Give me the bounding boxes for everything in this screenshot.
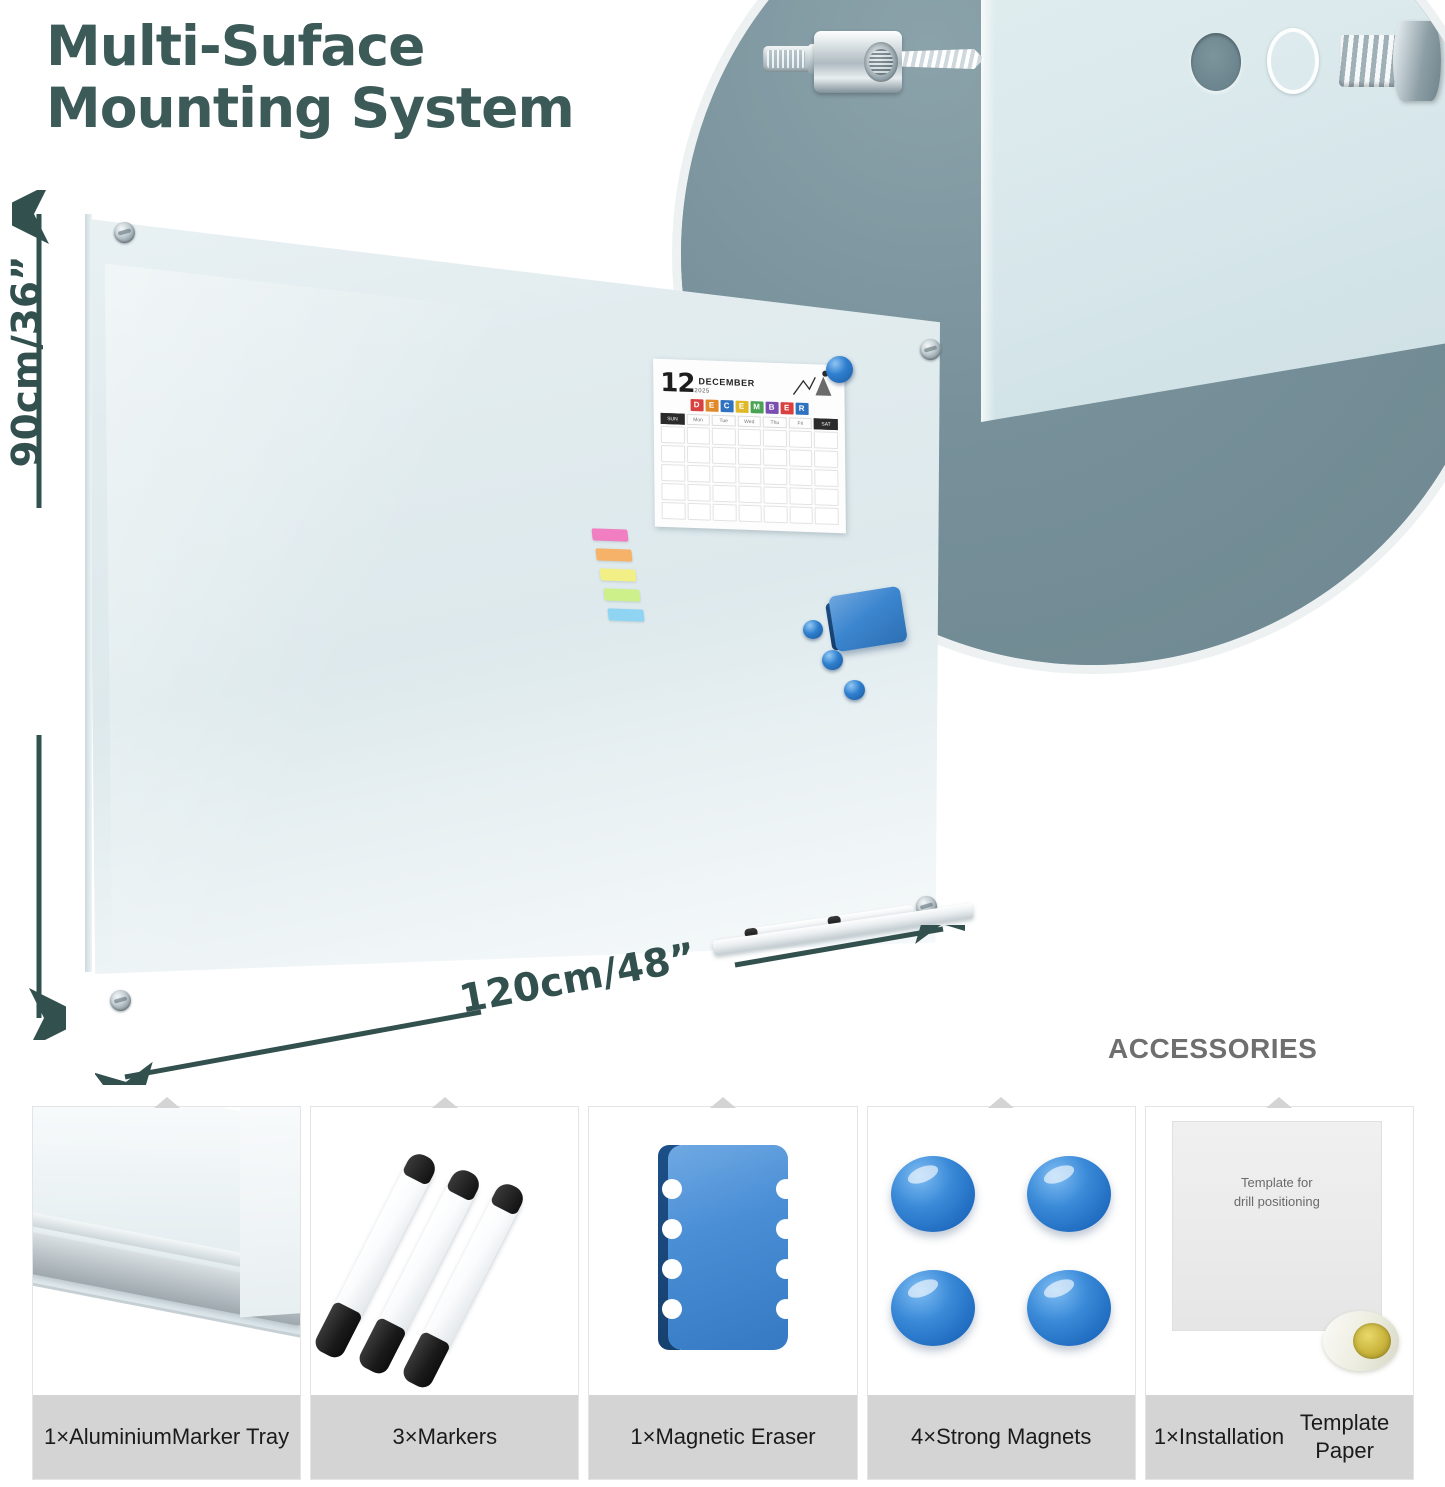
marker-cap-1 xyxy=(402,1150,440,1186)
calendar-weekday-cell: Wed xyxy=(737,416,761,428)
calendar-day-cell xyxy=(789,449,813,467)
calendar-weekday-cell: Thu xyxy=(763,416,787,428)
magnet-icon-2 xyxy=(1027,1156,1111,1232)
calendar-day-grid xyxy=(661,426,839,525)
threaded-cap-screw-icon xyxy=(1393,21,1441,101)
calendar-month: DECEMBER xyxy=(698,377,754,388)
accessory-card-markers[interactable]: 3×Markers xyxy=(310,1106,579,1480)
calendar-letter-block: E xyxy=(735,401,748,413)
sticky-note xyxy=(607,608,644,621)
accessory-label-markers: 3×Markers xyxy=(311,1395,578,1479)
calendar-day-cell xyxy=(789,506,813,524)
template-paper-text: Template for drill positioning xyxy=(1173,1174,1381,1212)
calendar-paper: 12 DECEMBER 2025 DECEMBER SUNMonTueWedTh… xyxy=(653,359,846,534)
washer-icon xyxy=(1267,28,1319,94)
calendar-day-cell xyxy=(712,428,736,446)
page-title: Multi-Suface Mounting System xyxy=(46,16,706,139)
calendar-year: 2025 xyxy=(694,388,709,395)
label-notch xyxy=(988,1097,1014,1108)
calendar-day-cell xyxy=(738,505,762,523)
accessories-row: 1×AluminiumMarker Tray 3×Markers xyxy=(32,1106,1414,1480)
glass-hole-icon xyxy=(1191,33,1241,91)
calendar-day-cell xyxy=(713,485,737,503)
eraser-scallop-l1 xyxy=(662,1179,682,1199)
accessory-card-aluminium-marker-tray[interactable]: 1×AluminiumMarker Tray xyxy=(32,1106,301,1480)
tape-core xyxy=(1353,1323,1391,1359)
calendar-letter-block: R xyxy=(795,403,808,415)
title-line-1: Multi-Suface xyxy=(46,16,706,78)
accessories-heading: ACCESSORIES xyxy=(1108,1033,1317,1065)
calendar-day-cell xyxy=(738,429,762,447)
calendar-day-cell xyxy=(815,469,839,487)
accessory-label-magnetic-eraser: 1×Magnetic Eraser xyxy=(589,1395,856,1479)
calendar-day-cell xyxy=(687,503,711,521)
template-text-line-2: drill positioning xyxy=(1173,1193,1381,1212)
marker-tip-3 xyxy=(400,1331,451,1391)
marker-tray-photo xyxy=(33,1107,300,1395)
calendar-day-cell xyxy=(686,427,710,445)
calendar-weekday-cell: Tue xyxy=(712,415,736,427)
label-notch xyxy=(432,1097,458,1108)
calendar-magnet-pin xyxy=(826,356,853,383)
calendar-day-cell xyxy=(815,507,839,525)
calendar-day-cell xyxy=(712,447,736,465)
tape-roll-icon xyxy=(1323,1311,1399,1371)
calendar-day-cell xyxy=(662,502,686,520)
accessory-card-magnetic-eraser[interactable]: 1×Magnetic Eraser xyxy=(588,1106,857,1480)
magnet-icon-3 xyxy=(891,1270,975,1346)
calendar-weekday-cell: Mon xyxy=(686,414,710,426)
markers-photo xyxy=(311,1107,578,1395)
board-surface xyxy=(82,184,962,974)
board-magnet-1 xyxy=(803,620,823,639)
accessory-card-installation-template[interactable]: Template for drill positioning 1×Install… xyxy=(1145,1106,1414,1480)
accessory-label-aluminium-marker-tray: 1×AluminiumMarker Tray xyxy=(33,1395,300,1479)
eraser-scallop-l2 xyxy=(662,1219,682,1239)
calendar-day-cell xyxy=(764,505,788,523)
strong-magnets-photo xyxy=(868,1107,1135,1395)
label-notch xyxy=(154,1097,180,1108)
template-text-line-1: Template for xyxy=(1173,1174,1381,1193)
eraser-front-face xyxy=(668,1145,788,1350)
calendar-day-cell xyxy=(738,467,762,485)
calendar-weekday-cell: SUN xyxy=(661,413,685,425)
sticky-note xyxy=(603,588,640,601)
accessory-card-strong-magnets[interactable]: 4×Strong Magnets xyxy=(867,1106,1136,1480)
standoff-screw-top-right xyxy=(920,339,941,360)
eraser-top xyxy=(828,586,908,653)
tray-right-glass xyxy=(240,1107,300,1317)
wall-anchor-icon xyxy=(763,46,819,72)
marker-tip-2 xyxy=(356,1317,407,1377)
eraser-scallop-r1 xyxy=(776,1179,796,1199)
calendar-letter-block: E xyxy=(705,399,718,411)
sticky-note xyxy=(599,568,636,581)
calendar-day-cell xyxy=(712,466,736,484)
height-dimension-arrow xyxy=(12,190,66,1040)
calendar-letter-block: E xyxy=(780,402,793,414)
calendar-day-cell xyxy=(687,484,711,502)
marker-cap-2 xyxy=(446,1166,484,1202)
calendar-day-cell xyxy=(738,448,762,466)
accessory-label-installation-template: 1×InstallationTemplate Paper xyxy=(1146,1395,1413,1479)
eraser-scallop-r2 xyxy=(776,1219,796,1239)
calendar-letter-block: B xyxy=(765,402,778,414)
calendar-day-cell xyxy=(763,429,787,447)
calendar-weekday-cell: Fri xyxy=(789,417,813,429)
calendar-day-cell xyxy=(713,504,737,522)
calendar-letter-block: C xyxy=(720,400,733,412)
calendar-day-cell xyxy=(764,486,788,504)
board-magnet-2 xyxy=(822,650,843,670)
eraser-scallop-r3 xyxy=(776,1259,796,1279)
label-notch xyxy=(1266,1097,1292,1108)
sticky-note xyxy=(595,548,632,561)
calendar-day-cell xyxy=(789,487,813,505)
calendar-letter-block: D xyxy=(690,399,703,411)
magnet-icon-4 xyxy=(1027,1270,1111,1346)
template-paper-icon: Template for drill positioning xyxy=(1172,1121,1382,1331)
calendar-header: 12 DECEMBER 2025 xyxy=(660,365,837,402)
magnetic-eraser-icon xyxy=(658,1145,788,1350)
sticky-note xyxy=(591,528,628,541)
calendar-day-number: 12 xyxy=(660,370,694,397)
marker-cap-3 xyxy=(490,1180,528,1216)
calendar-day-cell xyxy=(738,486,762,504)
magnetic-eraser-photo xyxy=(589,1107,856,1395)
magnets-grid xyxy=(891,1156,1111,1346)
calendar-day-cell xyxy=(661,483,685,501)
calendar-letter-block: M xyxy=(750,401,763,413)
barrel-face xyxy=(864,42,898,82)
calendar-day-cell xyxy=(814,450,838,468)
calendar-day-cell xyxy=(764,467,788,485)
magnet-icon-1 xyxy=(891,1156,975,1232)
calendar-day-cell xyxy=(661,464,685,482)
calendar-day-cell xyxy=(789,468,813,486)
marker-tip-1 xyxy=(312,1301,363,1361)
infographic-canvas: Multi-Suface Mounting System 90cm/36 xyxy=(0,0,1445,1487)
eraser-scallop-r4 xyxy=(776,1299,796,1319)
calendar-day-cell xyxy=(815,488,839,506)
installation-template-photo: Template for drill positioning xyxy=(1146,1107,1413,1395)
calendar-day-cell xyxy=(789,430,813,448)
board-magnetic-eraser xyxy=(828,586,908,653)
standoff-barrel-icon xyxy=(814,31,902,93)
eraser-scallop-l4 xyxy=(662,1299,682,1319)
calendar-day-cell xyxy=(687,446,711,464)
mounting-screw-icon xyxy=(902,49,984,69)
board-left-edge xyxy=(85,214,92,972)
calendar-day-cell xyxy=(687,465,711,483)
eraser-scallop-l3 xyxy=(662,1259,682,1279)
calendar-day-cell xyxy=(661,445,685,463)
glass-whiteboard: 12 DECEMBER 2025 DECEMBER SUNMonTueWedTh… xyxy=(82,184,962,974)
calendar-day-cell xyxy=(763,448,787,466)
accessory-label-strong-magnets: 4×Strong Magnets xyxy=(868,1395,1135,1479)
label-notch xyxy=(710,1097,736,1108)
calendar-weekday-cell: SAT xyxy=(814,418,838,430)
title-line-2: Mounting System xyxy=(46,78,706,140)
standoff-screw-top-left xyxy=(114,222,135,243)
calendar-day-cell xyxy=(814,431,838,449)
board-magnet-3 xyxy=(844,680,865,700)
calendar-day-cell xyxy=(661,426,685,444)
